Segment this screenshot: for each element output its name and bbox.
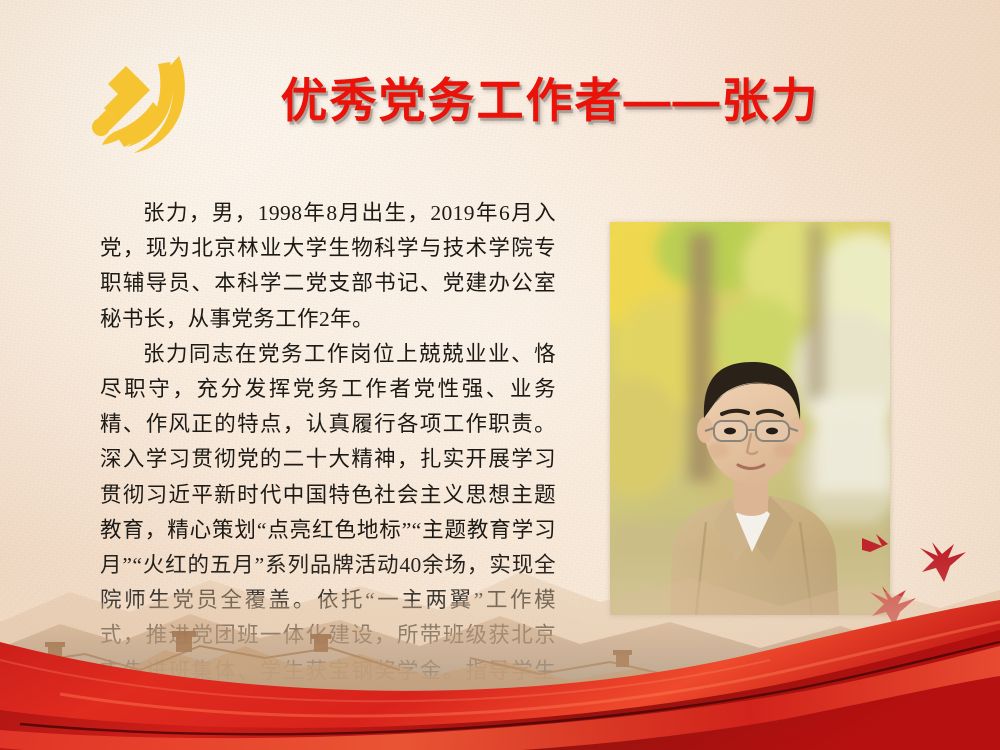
article-body: 张力，男，1998年8月出生，2019年6月入党，现为北京林业大学生物科学与技术… xyxy=(100,196,556,750)
paragraph-2: 张力同志在党务工作岗位上兢兢业业、恪尽职守，充分发挥党务工作者党性强、业务精、作… xyxy=(100,337,556,750)
poster-canvas: 优秀党务工作者——张力 张力，男，1998年8月出生，2019年6月入党，现为北… xyxy=(0,0,1000,750)
page-title: 优秀党务工作者——张力 xyxy=(250,62,850,131)
cpc-hammer-sickle-emblem-icon xyxy=(84,52,196,160)
portrait-photo xyxy=(610,222,890,615)
paragraph-1: 张力，男，1998年8月出生，2019年6月入党，现为北京林业大学生物科学与技术… xyxy=(100,196,556,337)
